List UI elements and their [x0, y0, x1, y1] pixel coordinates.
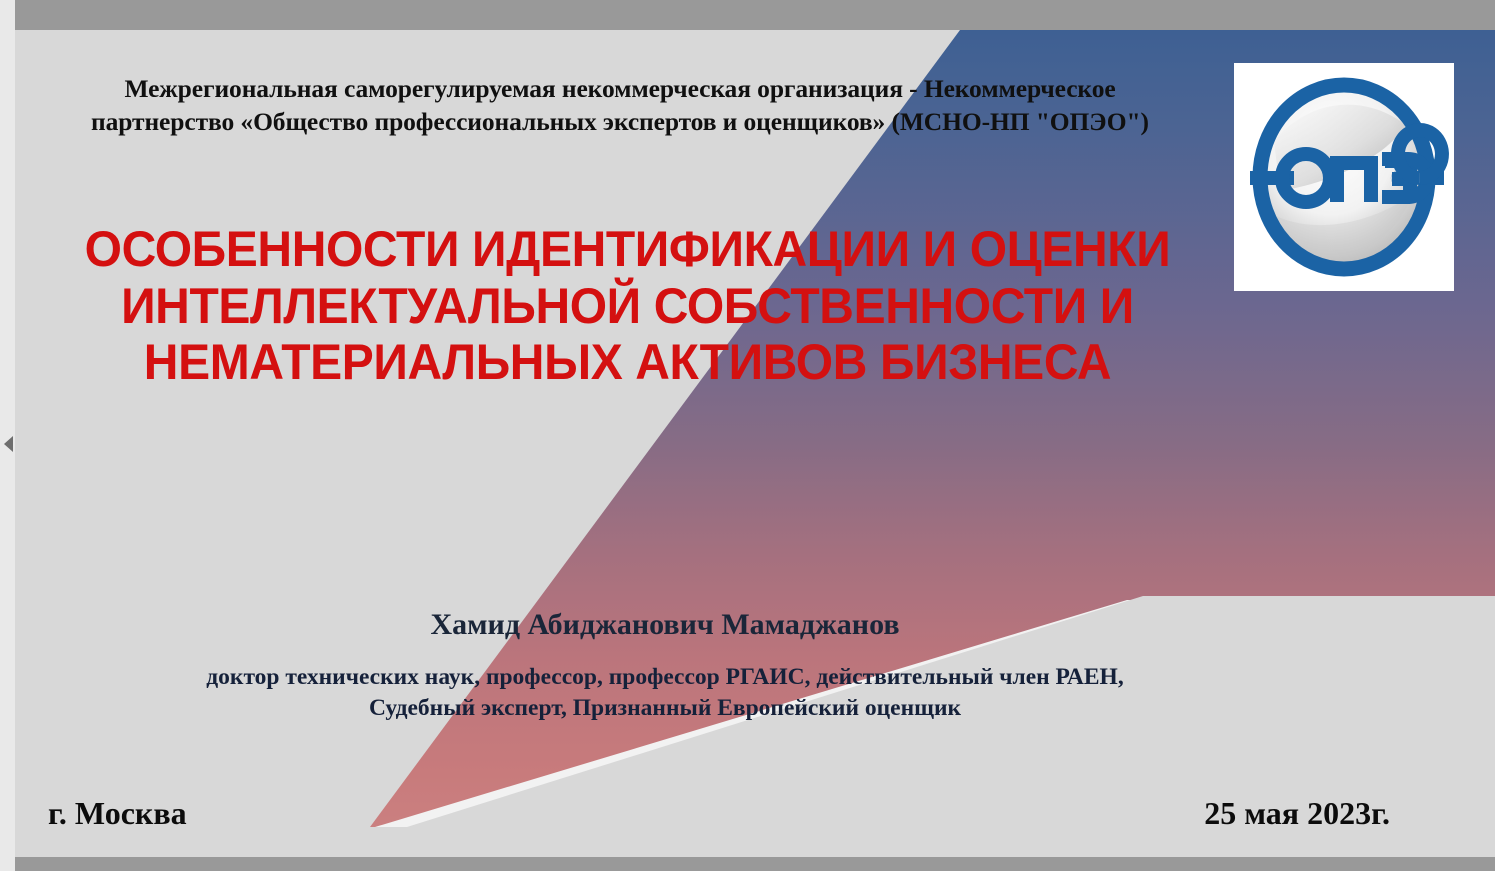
slide-canvas: Межрегиональная саморегулируемая некомме… [15, 30, 1495, 857]
presentation-slide-viewer: Межрегиональная саморегулируемая некомме… [0, 0, 1495, 871]
author-name: Хамид Абиджанович Мамаджанов [165, 608, 1165, 642]
viewer-bottom-bar [15, 857, 1495, 871]
footer-date: 25 мая 2023г. [1204, 795, 1390, 832]
organization-header: Межрегиональная саморегулируемая некомме… [75, 73, 1165, 138]
author-credentials: доктор технических наук, профессор, проф… [175, 662, 1155, 725]
previous-slide-arrow-icon[interactable] [4, 436, 13, 452]
footer-city: г. Москва [48, 795, 187, 832]
viewer-top-bar [15, 0, 1495, 30]
page-title: ОСОБЕННОСТИ ИДЕНТИФИКАЦИИ И ОЦЕНКИ ИНТЕЛ… [68, 221, 1186, 391]
opeo-logo [1234, 63, 1454, 291]
